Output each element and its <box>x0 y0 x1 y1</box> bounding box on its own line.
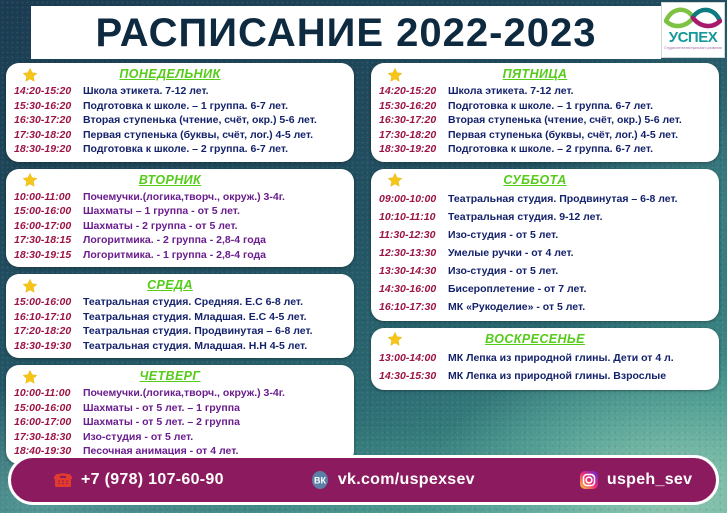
star-icon <box>387 67 403 83</box>
schedule-time: 15:00-16:00 <box>14 401 76 416</box>
schedule-description: МК Лепка из природной глины. Дети от 4 л… <box>448 349 674 367</box>
day-name-monday: ПОНЕДЕЛЬНИК <box>38 68 302 81</box>
day-name-wednesday: СРЕДА <box>38 279 302 292</box>
schedule-row: 13:00-14:00МК Лепка из природной глины. … <box>379 349 711 367</box>
schedule-description: Подготовка к школе. – 2 группа. 6-7 лет. <box>83 142 288 157</box>
schedule-description: Подготовка к школе. – 2 группа. 6-7 лет. <box>448 142 653 157</box>
day-card-thursday: ЧЕТВЕРГ10:00-11:00Почемучки.(логика,твор… <box>6 365 354 464</box>
schedule-time: 10:10-11:10 <box>379 208 441 226</box>
star-icon <box>22 172 38 188</box>
schedule-time: 18:30-19:15 <box>14 248 76 263</box>
schedule-description: Вторая ступенька (чтение, счёт, окр.) 5-… <box>448 113 682 128</box>
schedule-row: 11:30-12:30Изо-студия - от 5 лет. <box>379 226 711 244</box>
schedule-description: Почемучки.(логика,творч., окруж.) 3-4г. <box>83 386 285 401</box>
day-rows: 13:00-14:00МК Лепка из природной глины. … <box>379 349 711 385</box>
schedule-time: 18:30-19:20 <box>379 142 441 157</box>
schedule-row: 09:00-10:00Театральная студия. Продвинут… <box>379 190 711 208</box>
schedule-row: 15:00-16:00Шахматы - от 5 лет. – 1 групп… <box>14 401 346 416</box>
schedule-row: 17:30-18:20Первая ступенька (буквы, счёт… <box>379 128 711 143</box>
schedule-description: МК Лепка из природной глины. Взрослые <box>448 367 666 385</box>
schedule-time: 11:30-12:30 <box>379 226 441 244</box>
day-rows: 09:00-10:00Театральная студия. Продвинут… <box>379 190 711 316</box>
schedule-time: 17:20-18:20 <box>14 324 76 339</box>
schedule-row: 12:30-13:30Умелые ручки - от 4 лет. <box>379 244 711 262</box>
day-card-header: ЧЕТВЕРГ <box>14 369 346 384</box>
schedule-row: 16:00-17:00Шахматы - 2 группа - от 5 лет… <box>14 219 346 234</box>
schedule-row: 17:30-18:20Первая ступенька (буквы, счёт… <box>14 128 346 143</box>
schedule-row: 10:10-11:10Театральная студия. 9-12 лет. <box>379 208 711 226</box>
day-card-header: ВТОРНИК <box>14 173 346 188</box>
schedule-description: Шахматы - от 5 лет. – 1 группа <box>83 401 240 416</box>
star-icon <box>387 172 403 188</box>
schedule-time: 12:30-13:30 <box>379 244 441 262</box>
day-rows: 14:20-15:20Школа этикета. 7-12 лет.15:30… <box>14 84 346 157</box>
schedule-row: 13:30-14:30Изо-студия - от 5 лет. <box>379 262 711 280</box>
day-card-tuesday: ВТОРНИК10:00-11:00Почемучки.(логика,твор… <box>6 169 354 268</box>
schedule-row: 15:30-16:20Подготовка к школе. – 1 групп… <box>14 99 346 114</box>
schedule-row: 14:30-15:30МК Лепка из природной глины. … <box>379 367 711 385</box>
schedule-time: 09:00-10:00 <box>379 190 441 208</box>
schedule-row: 18:30-19:30Театральная студия. Младшая. … <box>14 339 346 354</box>
vk-icon: ВК <box>310 470 330 490</box>
schedule-row: 16:10-17:30МК «Рукоделие» - от 5 лет. <box>379 298 711 316</box>
schedule-row: 18:30-19:20Подготовка к школе. – 2 групп… <box>379 142 711 157</box>
schedule-row: 17:30-18:30Изо-студия - от 5 лет. <box>14 430 346 445</box>
star-icon <box>22 278 38 294</box>
day-name-thursday: ЧЕТВЕРГ <box>38 370 302 383</box>
schedule-row: 18:30-19:15Логоритмика. - 1 группа - 2,8… <box>14 248 346 263</box>
brand-logo: УСПЕХ Студия интеллектуального развития <box>661 2 725 58</box>
schedule-description: Изо-студия - от 5 лет. <box>83 430 193 445</box>
logo-wordmark: УСПЕХ <box>669 30 717 45</box>
schedule-description: Логоритмика. - 2 группа - 2,8-4 года <box>83 233 266 248</box>
schedule-row: 14:20-15:20Школа этикета. 7-12 лет. <box>14 84 346 99</box>
schedule-poster: РАСПИСАНИЕ 2022-2023 УСПЕХ Студия интелл… <box>0 0 727 513</box>
logo-tagline: Студия интеллектуального развития <box>664 47 721 51</box>
day-card-header: СУББОТА <box>379 173 711 188</box>
schedule-time: 16:30-17:20 <box>14 113 76 128</box>
phone-number: +7 (978) 107-60-90 <box>81 471 224 489</box>
schedule-description: Бисероплетение - от 7 лет. <box>448 280 586 298</box>
schedule-time: 15:30-16:20 <box>379 99 441 114</box>
day-card-sunday: ВОСКРЕСЕНЬЕ13:00-14:00МК Лепка из природ… <box>371 328 719 390</box>
schedule-time: 14:30-15:30 <box>379 367 441 385</box>
schedule-row: 15:00-16:00Шахматы – 1 группа - от 5 лет… <box>14 204 346 219</box>
schedule-time: 14:20-15:20 <box>14 84 76 99</box>
schedule-time: 16:10-17:30 <box>379 298 441 316</box>
day-name-tuesday: ВТОРНИК <box>38 174 302 187</box>
schedule-description: Театральная студия. Младшая. Е.С 4-5 лет… <box>83 310 307 325</box>
logo-arcs-icon <box>664 5 722 29</box>
schedule-description: Изо-студия - от 5 лет. <box>448 262 558 280</box>
vk-handle: vk.com/uspexsev <box>338 471 475 489</box>
schedule-description: Изо-студия - от 5 лет. <box>448 226 558 244</box>
day-rows: 10:00-11:00Почемучки.(логика,творч., окр… <box>14 190 346 263</box>
schedule-time: 14:30-16:00 <box>379 280 441 298</box>
schedule-time: 16:10-17:10 <box>14 310 76 325</box>
schedule-row: 10:00-11:00Почемучки.(логика,творч., окр… <box>14 190 346 205</box>
schedule-time: 17:30-18:15 <box>14 233 76 248</box>
day-rows: 15:00-16:00Театральная студия. Средняя. … <box>14 295 346 353</box>
star-icon <box>387 331 403 347</box>
schedule-time: 16:00-17:00 <box>14 219 76 234</box>
schedule-description: Школа этикета. 7-12 лет. <box>448 84 574 99</box>
schedule-description: Шахматы – 1 группа - от 5 лет. <box>83 204 240 219</box>
schedule-description: Шахматы - от 5 лет. – 2 группа <box>83 415 240 430</box>
schedule-row: 17:20-18:20Театральная студия. Продвинут… <box>14 324 346 339</box>
schedule-description: МК «Рукоделие» - от 5 лет. <box>448 298 585 316</box>
schedule-description: Театральная студия. Средняя. Е.С 6-8 лет… <box>83 295 303 310</box>
svg-text:ВК: ВК <box>314 476 326 486</box>
schedule-time: 17:30-18:20 <box>379 128 441 143</box>
poster-header: РАСПИСАНИЕ 2022-2023 <box>31 6 661 59</box>
schedule-time: 10:00-11:00 <box>14 386 76 401</box>
schedule-description: Первая ступенька (буквы, счёт, лог.) 4-5… <box>83 128 313 143</box>
schedule-description: Театральная студия. Продвинутая – 6-8 ле… <box>83 324 313 339</box>
schedule-column-right: ПЯТНИЦА14:20-15:20Школа этикета. 7-12 ле… <box>371 63 719 397</box>
schedule-time: 13:00-14:00 <box>379 349 441 367</box>
schedule-row: 16:30-17:20Вторая ступенька (чтение, счё… <box>379 113 711 128</box>
schedule-time: 17:30-18:30 <box>14 430 76 445</box>
contact-vk[interactable]: ВК vk.com/uspexsev <box>310 470 475 490</box>
day-card-wednesday: СРЕДА15:00-16:00Театральная студия. Сред… <box>6 274 354 358</box>
schedule-column-left: ПОНЕДЕЛЬНИК14:20-15:20Школа этикета. 7-1… <box>6 63 354 471</box>
schedule-row: 16:30-17:20Вторая ступенька (чтение, счё… <box>14 113 346 128</box>
schedule-time: 15:00-16:00 <box>14 295 76 310</box>
telephone-icon <box>53 470 73 490</box>
schedule-description: Подготовка к школе. – 1 группа. 6-7 лет. <box>448 99 653 114</box>
page-title: РАСПИСАНИЕ 2022-2023 <box>96 13 597 53</box>
schedule-description: Театральная студия. Продвинутая – 6-8 ле… <box>448 190 678 208</box>
schedule-row: 16:00-17:00Шахматы - от 5 лет. – 2 групп… <box>14 415 346 430</box>
schedule-description: Почемучки.(логика,творч., окруж.) 3-4г. <box>83 190 285 205</box>
schedule-time: 14:20-15:20 <box>379 84 441 99</box>
schedule-time: 16:30-17:20 <box>379 113 441 128</box>
schedule-time: 15:30-16:20 <box>14 99 76 114</box>
schedule-description: Театральная студия. Младшая. Н.Н 4-5 лет… <box>83 339 307 354</box>
contact-phone[interactable]: +7 (978) 107-60-90 <box>53 470 224 490</box>
schedule-time: 16:00-17:00 <box>14 415 76 430</box>
schedule-time: 10:00-11:00 <box>14 190 76 205</box>
contact-footer: +7 (978) 107-60-90 ВК vk.com/uspexsev <box>8 455 719 505</box>
day-card-header: ПОНЕДЕЛЬНИК <box>14 67 346 82</box>
day-rows: 14:20-15:20Школа этикета. 7-12 лет.15:30… <box>379 84 711 157</box>
schedule-time: 18:30-19:20 <box>14 142 76 157</box>
schedule-description: Театральная студия. 9-12 лет. <box>448 208 603 226</box>
schedule-description: Школа этикета. 7-12 лет. <box>83 84 209 99</box>
day-card-header: СРЕДА <box>14 278 346 293</box>
schedule-description: Вторая ступенька (чтение, счёт, окр.) 5-… <box>83 113 317 128</box>
instagram-handle: uspeh_sev <box>607 471 692 489</box>
day-name-saturday: СУББОТА <box>403 174 667 187</box>
day-card-friday: ПЯТНИЦА14:20-15:20Школа этикета. 7-12 ле… <box>371 63 719 162</box>
schedule-row: 18:30-19:20Подготовка к школе. – 2 групп… <box>14 142 346 157</box>
star-icon <box>22 369 38 385</box>
schedule-row: 15:30-16:20Подготовка к школе. – 1 групп… <box>379 99 711 114</box>
schedule-time: 17:30-18:20 <box>14 128 76 143</box>
schedule-description: Умелые ручки - от 4 лет. <box>448 244 574 262</box>
schedule-description: Логоритмика. - 1 группа - 2,8-4 года <box>83 248 266 263</box>
schedule-row: 17:30-18:15Логоритмика. - 2 группа - 2,8… <box>14 233 346 248</box>
schedule-description: Шахматы - 2 группа - от 5 лет. <box>83 219 238 234</box>
schedule-description: Первая ступенька (буквы, счёт, лог.) 4-5… <box>448 128 678 143</box>
contact-instagram[interactable]: uspeh_sev <box>579 470 692 490</box>
schedule-time: 18:30-19:30 <box>14 339 76 354</box>
schedule-description: Подготовка к школе. – 1 группа. 6-7 лет. <box>83 99 288 114</box>
schedule-row: 14:30-16:00Бисероплетение - от 7 лет. <box>379 280 711 298</box>
schedule-row: 16:10-17:10Театральная студия. Младшая. … <box>14 310 346 325</box>
day-card-header: ПЯТНИЦА <box>379 67 711 82</box>
star-icon <box>22 67 38 83</box>
schedule-row: 15:00-16:00Театральная студия. Средняя. … <box>14 295 346 310</box>
day-name-sunday: ВОСКРЕСЕНЬЕ <box>403 333 667 346</box>
day-card-monday: ПОНЕДЕЛЬНИК14:20-15:20Школа этикета. 7-1… <box>6 63 354 162</box>
day-card-saturday: СУББОТА09:00-10:00Театральная студия. Пр… <box>371 169 719 321</box>
day-card-header: ВОСКРЕСЕНЬЕ <box>379 332 711 347</box>
schedule-time: 15:00-16:00 <box>14 204 76 219</box>
schedule-time: 13:30-14:30 <box>379 262 441 280</box>
schedule-row: 14:20-15:20Школа этикета. 7-12 лет. <box>379 84 711 99</box>
day-name-friday: ПЯТНИЦА <box>403 68 667 81</box>
instagram-icon <box>579 470 599 490</box>
day-rows: 10:00-11:00Почемучки.(логика,творч., окр… <box>14 386 346 459</box>
schedule-row: 10:00-11:00Почемучки.(логика,творч., окр… <box>14 386 346 401</box>
